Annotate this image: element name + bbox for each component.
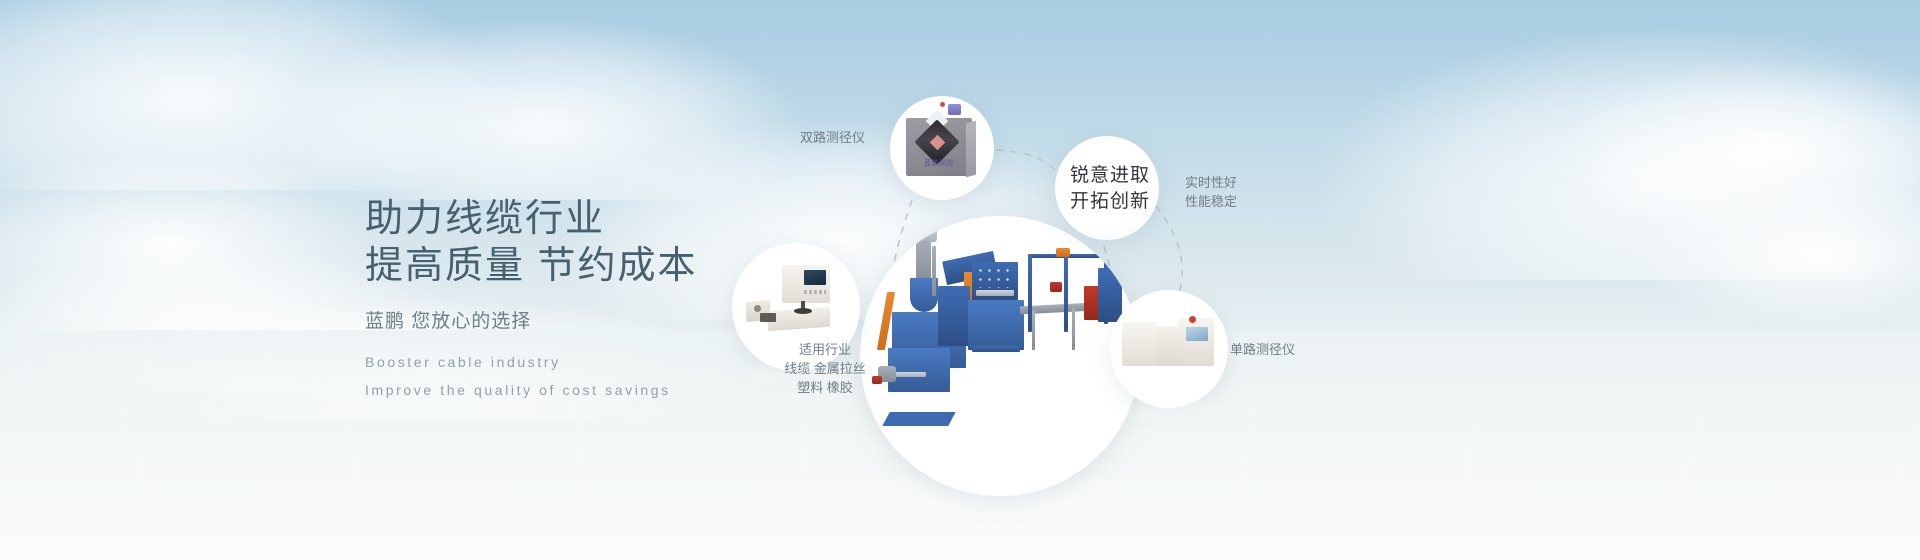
console-sensor-lens <box>754 305 761 312</box>
console-base-shadow <box>760 313 776 322</box>
performance-line-1: 实时性好 <box>1185 173 1237 192</box>
machine-cabinet-label <box>976 290 1014 296</box>
callout-single-gauge-label: 单路测径仪 <box>1230 340 1295 359</box>
machine-gantry-post-left <box>1028 254 1032 332</box>
cloud-left-low <box>0 150 400 340</box>
machine-hopper-stack <box>916 238 931 282</box>
industry-title: 适用行业 <box>730 340 920 359</box>
single-gauge-left-tower <box>1122 322 1156 366</box>
machine-tank-legs <box>972 346 1020 352</box>
bubble-single-gauge <box>1110 290 1228 408</box>
single-gauge-display-screen <box>1186 327 1208 341</box>
machine-gantry-post-mid <box>1064 254 1068 332</box>
callout-dual-gauge: 双路测径仪 <box>800 128 865 147</box>
dual-gauge-brand-label: 蓝鹏测控 <box>906 158 972 168</box>
machine-rail-support-1 <box>1032 310 1035 350</box>
industry-line-2: 塑料 橡胶 <box>730 378 920 397</box>
machine-floor-mat <box>882 412 955 426</box>
industry-line-1: 线缆 金属拉丝 <box>730 359 920 378</box>
callout-industries: 适用行业 线缆 金属拉丝 塑料 橡胶 <box>730 340 920 397</box>
cloud-band-top-left <box>0 0 500 190</box>
single-gauge-indicator-lamp <box>1189 316 1196 323</box>
performance-line-2: 性能稳定 <box>1185 192 1237 211</box>
machine-rail-support-2 <box>1072 308 1075 350</box>
dual-gauge-status-led <box>940 102 945 107</box>
machine-extruder-frame <box>938 286 970 346</box>
console-display-screen <box>804 270 826 285</box>
slogan-line-1: 锐意进取 <box>1067 163 1153 189</box>
machine-motor-unit <box>1056 248 1070 257</box>
dual-gauge-connector-cap <box>948 104 961 115</box>
slogan-line-2: 开拓创新 <box>1067 189 1153 215</box>
console-monitor-foot <box>794 308 812 314</box>
slogan-text-group: 锐意进取 开拓创新 <box>1067 163 1153 215</box>
callout-dual-gauge-label: 双路测径仪 <box>800 128 865 147</box>
callout-performance: 实时性好 性能稳定 <box>1185 173 1237 211</box>
hero-banner: 助力线缆行业 提高质量 节约成本 蓝鹏 您放心的选择 Booster cable… <box>0 0 1920 560</box>
dual-gauge-illustration: 蓝鹏测控 <box>890 96 994 200</box>
single-gauge-illustration <box>1110 290 1228 408</box>
machine-cabinet-indicators <box>976 266 1014 288</box>
callout-single-gauge: 单路测径仪 <box>1230 340 1295 359</box>
machine-winder-spool <box>1050 282 1062 292</box>
dual-gauge-side-panel <box>966 121 976 178</box>
machine-cooling-tank <box>968 300 1024 350</box>
single-gauge-right-tower <box>1178 318 1214 366</box>
machine-hopper-pipe <box>932 246 936 296</box>
bubble-dual-gauge: 蓝鹏测控 <box>890 96 994 200</box>
console-button-row <box>804 290 826 294</box>
machine-hopper-head <box>910 228 937 242</box>
product-composition: 蓝鹏测控 <box>700 0 1920 560</box>
